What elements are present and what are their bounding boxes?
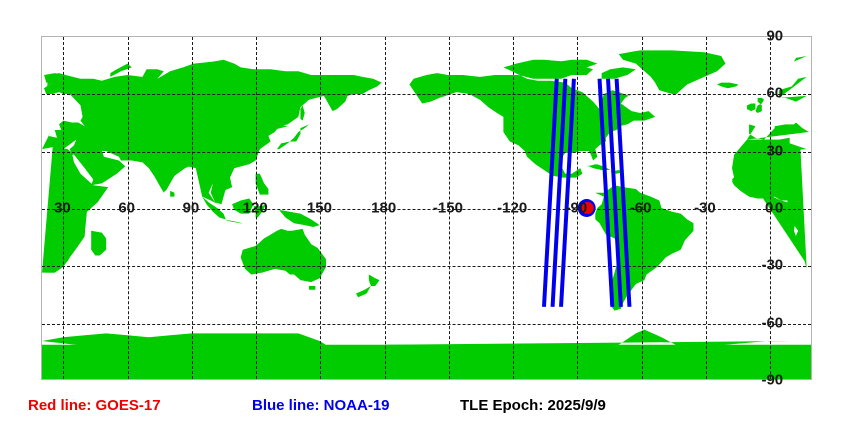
- lon-tick-label: -30: [694, 201, 716, 216]
- legend-entry-tle-epoch: TLE Epoch: 2025/9/9: [460, 398, 606, 413]
- legend: Red line: GOES-17 Blue line: NOAA-19 TLE…: [0, 396, 850, 420]
- lon-tick-label: 0: [765, 201, 773, 216]
- satellite-ground-track-map: -300306090120150180-150-120-90-609060300…: [0, 0, 850, 425]
- lon-tick-label: 150: [307, 201, 332, 216]
- lat-tick-label: 0: [775, 201, 783, 216]
- noaa19-track-group: [544, 79, 629, 307]
- lat-tick-label: 60: [766, 86, 783, 101]
- lat-tick-label: -60: [761, 315, 783, 330]
- legend-entry-goes17: Red line: GOES-17: [28, 398, 161, 413]
- lon-tick-label: 60: [118, 201, 135, 216]
- lat-tick-label: -30: [761, 258, 783, 273]
- lon-tick-label: -60: [630, 201, 652, 216]
- lon-tick-label: 90: [183, 201, 200, 216]
- lon-tick-label: -150: [433, 201, 463, 216]
- lon-tick-label: 30: [54, 201, 71, 216]
- legend-entry-noaa19: Blue line: NOAA-19: [252, 398, 390, 413]
- lon-tick-label: -120: [497, 201, 527, 216]
- lat-tick-label: 30: [766, 143, 783, 158]
- lon-tick-label: 120: [243, 201, 268, 216]
- lat-tick-label: -90: [761, 373, 783, 388]
- lat-tick-label: 90: [766, 29, 783, 44]
- lon-tick-label: 180: [371, 201, 396, 216]
- lon-tick-label: -90: [566, 201, 588, 216]
